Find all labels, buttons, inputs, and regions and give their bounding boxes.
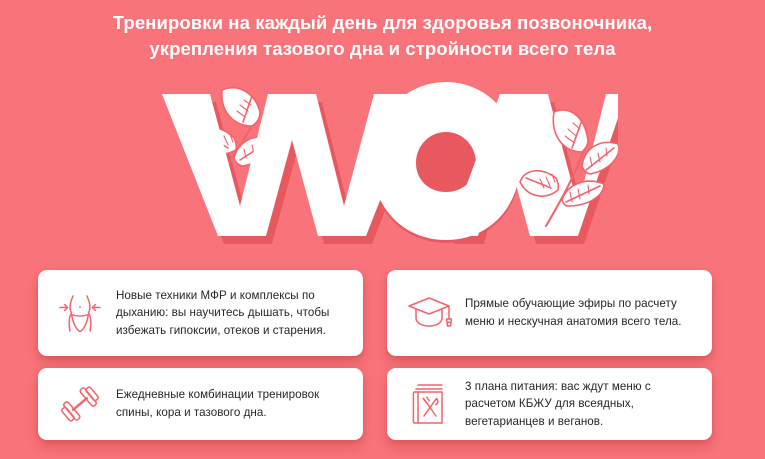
headline-line-2: укрепления тазового дна и стройности все… bbox=[40, 36, 725, 62]
benefit-card[interactable]: 3 плана питания: вас ждут меню с расчето… bbox=[387, 368, 712, 440]
headline-line-1: Тренировки на каждый день для здоровья п… bbox=[40, 10, 725, 36]
benefit-card-text: 3 плана питания: вас ждут меню с расчето… bbox=[465, 378, 698, 431]
dumbbell-icon bbox=[54, 378, 106, 430]
benefit-card[interactable]: Новые техники МФР и комплексы по дыханию… bbox=[38, 270, 363, 356]
wow-logo-graphic bbox=[148, 78, 618, 250]
page-title: Тренировки на каждый день для здоровья п… bbox=[0, 10, 765, 62]
benefit-card[interactable]: Ежедневные комбинации тренировок спины, … bbox=[38, 368, 363, 440]
benefit-card-text: Новые техники МФР и комплексы по дыханию… bbox=[116, 287, 349, 340]
brand-logo bbox=[0, 78, 765, 250]
benefit-card-text: Ежедневные комбинации тренировок спины, … bbox=[116, 386, 349, 421]
slim-waist-body-icon bbox=[54, 287, 106, 339]
benefit-card-text: Прямые обучающие эфиры по расчету меню и… bbox=[465, 295, 698, 330]
promo-banner: Тренировки на каждый день для здоровья п… bbox=[0, 0, 765, 459]
recipe-book-icon bbox=[403, 378, 455, 430]
benefit-cards-grid: Новые техники МФР и комплексы по дыханию… bbox=[38, 270, 712, 440]
graduation-cap-icon bbox=[403, 287, 455, 339]
benefit-card[interactable]: Прямые обучающие эфиры по расчету меню и… bbox=[387, 270, 712, 356]
